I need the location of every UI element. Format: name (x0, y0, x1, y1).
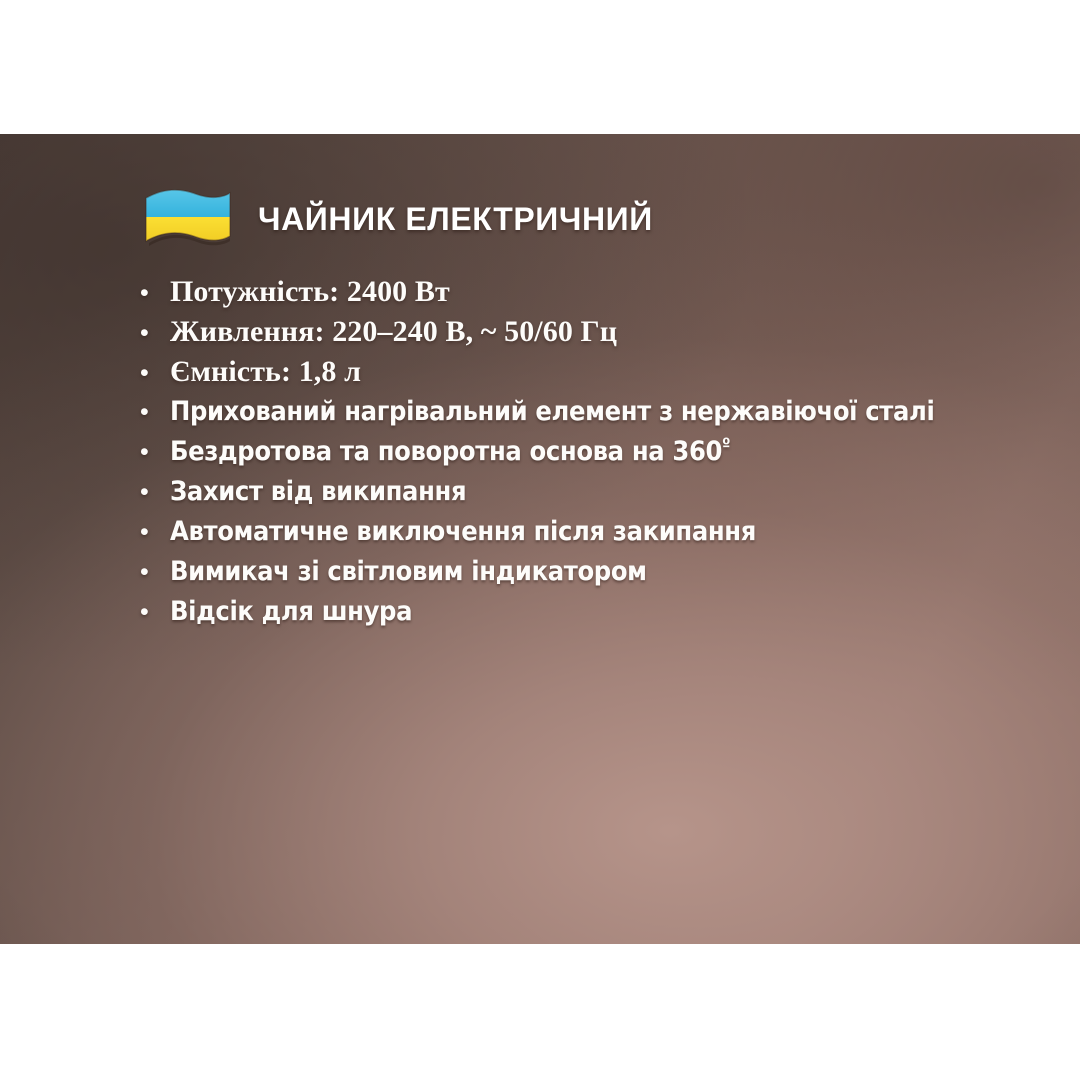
list-item-label: Захист від википання (170, 472, 935, 512)
slide-header: ЧАЙНИК ЕЛЕКТРИЧНИЙ (140, 182, 653, 256)
list-item-label: Вимикач зі світловим індикатором (170, 552, 935, 592)
list-item: • Прихований нагрівальний елемент з нерж… (140, 392, 1020, 432)
list-item: • Живлення: 220–240 В, ~ 50/60 Гц (140, 312, 1020, 352)
list-item: • Потужність: 2400 Вт (140, 272, 1020, 312)
list-item-text: Бездротова та поворотна основа на 360 (170, 436, 722, 467)
list-item: • Бездротова та поворотна основа на 360º (140, 432, 1020, 472)
slide-canvas: ЧАЙНИК ЕЛЕКТРИЧНИЙ • Потужність: 2400 Вт… (0, 0, 1080, 1080)
bullet-icon: • (140, 480, 170, 505)
list-item-label: Автоматичне виключення після закипання (170, 512, 935, 552)
bullet-icon: • (140, 321, 170, 346)
slide-content: ЧАЙНИК ЕЛЕКТРИЧНИЙ • Потужність: 2400 Вт… (0, 0, 1080, 810)
list-item-label: Ємність: 1,8 л (170, 352, 1020, 392)
bullet-icon: • (140, 400, 170, 425)
bullet-icon: • (140, 560, 170, 585)
degree-symbol: º (722, 434, 730, 454)
bullet-icon: • (140, 361, 170, 386)
bullet-icon: • (140, 600, 170, 625)
list-item: • Захист від википання (140, 472, 1020, 512)
list-item-label: Потужність: 2400 Вт (170, 272, 1020, 312)
list-item: • Вимикач зі світловим індикатором (140, 552, 1020, 592)
list-item-label: Відсік для шнура (170, 592, 935, 632)
bullet-icon: • (140, 520, 170, 545)
list-item: • Ємність: 1,8 л (140, 352, 1020, 392)
bullet-icon: • (140, 281, 170, 306)
list-item-label: Прихований нагрівальний елемент з нержав… (170, 392, 935, 432)
list-item: • Автоматичне виключення після закипання (140, 512, 1020, 552)
list-item-label: Бездротова та поворотна основа на 360º (170, 432, 935, 472)
page-title: ЧАЙНИК ЕЛЕКТРИЧНИЙ (258, 201, 653, 238)
spec-list: • Потужність: 2400 Вт • Живлення: 220–24… (140, 272, 1020, 632)
list-item: • Відсік для шнура (140, 592, 1020, 632)
ukraine-flag-icon (140, 184, 236, 256)
bullet-icon: • (140, 440, 170, 465)
list-item-label: Живлення: 220–240 В, ~ 50/60 Гц (170, 312, 1020, 352)
